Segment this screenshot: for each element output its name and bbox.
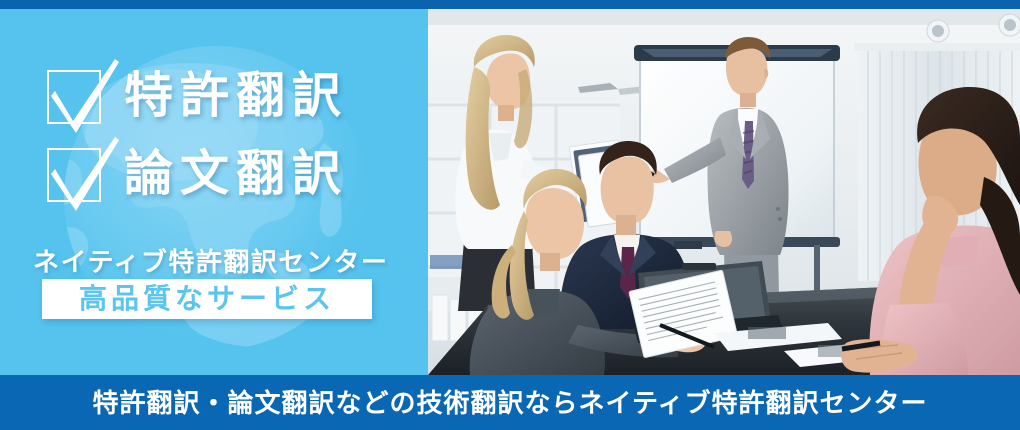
left-text-panel: 特許翻訳 論文翻訳 ネイティブ特許翻訳センター 高品質なサービス <box>0 9 428 375</box>
checkbox-checked-icon <box>44 67 106 125</box>
headline-label: 論文翻訳 <box>124 150 348 199</box>
bottom-tagline-text: 特許翻訳・論文翻訳などの技術翻訳ならネイティブ特許翻訳センター <box>93 390 928 416</box>
top-accent-rule <box>0 0 1020 9</box>
quality-badge-label: 高品質なサービス <box>79 285 335 313</box>
headline-row-thesis: 論文翻訳 <box>44 135 348 213</box>
headline-label: 特許翻訳 <box>124 72 348 121</box>
quality-badge: 高品質なサービス <box>42 279 372 319</box>
checkbox-checked-icon <box>44 145 106 203</box>
promotional-banner: 特許翻訳 論文翻訳 ネイティブ特許翻訳センター 高品質なサービス <box>0 0 1020 430</box>
headline-list: 特許翻訳 論文翻訳 <box>44 57 348 213</box>
meeting-photo <box>428 9 1020 375</box>
headline-row-patent: 特許翻訳 <box>44 57 348 135</box>
bottom-tagline-bar: 特許翻訳・論文翻訳などの技術翻訳ならネイティブ特許翻訳センター <box>0 375 1020 430</box>
panel-subtitle: ネイティブ特許翻訳センター <box>33 242 388 279</box>
